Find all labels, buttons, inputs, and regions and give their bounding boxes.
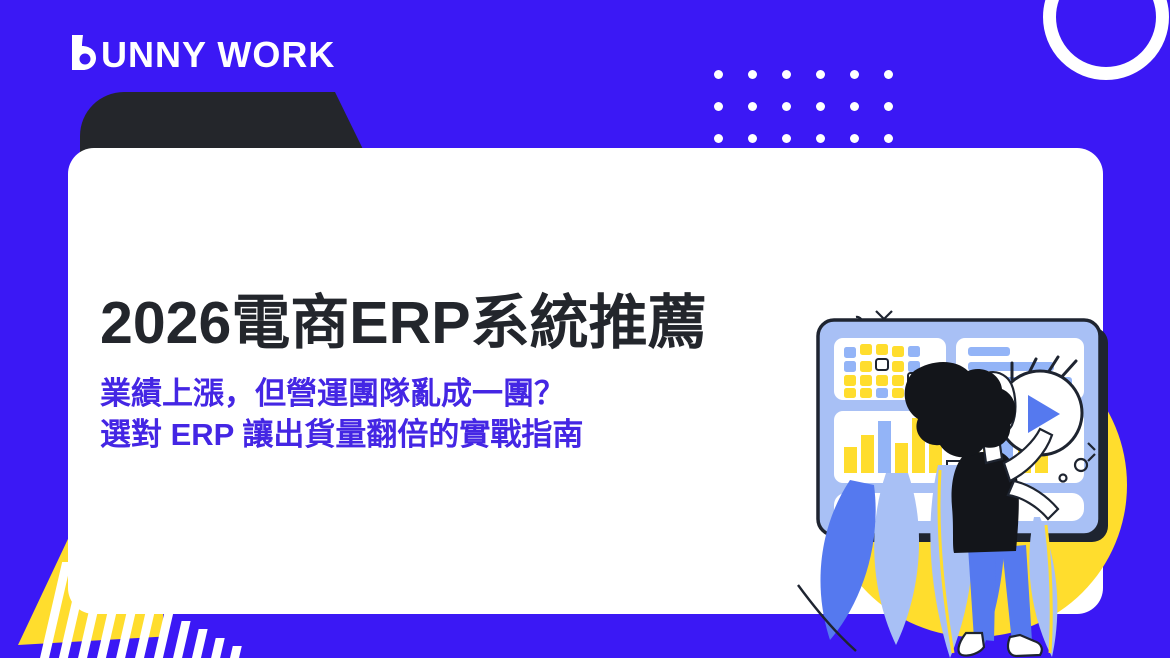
grid-dot bbox=[714, 70, 723, 79]
subtitle-line-1: 業績上漲，但營運團隊亂成一團？ bbox=[100, 373, 760, 414]
stripe bbox=[173, 621, 191, 658]
hero-text-block: 2026電商ERP系統推薦 業績上漲，但營運團隊亂成一團？ 選對 ERP 讓出貨… bbox=[100, 292, 760, 455]
grid-dot bbox=[782, 134, 791, 143]
grid-dot bbox=[884, 134, 893, 143]
grid-dot bbox=[816, 134, 825, 143]
grid-dot bbox=[782, 102, 791, 111]
grid-dot bbox=[884, 102, 893, 111]
bunny-b-icon bbox=[68, 33, 102, 77]
grid-dot bbox=[816, 102, 825, 111]
stripe bbox=[230, 646, 242, 658]
grid-dot bbox=[748, 70, 757, 79]
stripe bbox=[211, 638, 225, 658]
grid-dot bbox=[714, 102, 723, 111]
brand-name: UNNY WORK bbox=[101, 37, 335, 73]
page-title: 2026電商ERP系統推薦 bbox=[100, 292, 760, 356]
grid-dot bbox=[850, 70, 859, 79]
brand-logo[interactable]: UNNY WORK bbox=[68, 33, 335, 77]
grid-dot bbox=[850, 134, 859, 143]
stripe bbox=[154, 612, 174, 658]
grid-dot bbox=[714, 134, 723, 143]
grid-dot bbox=[748, 102, 757, 111]
grid-dot bbox=[782, 70, 791, 79]
stripe bbox=[192, 629, 208, 658]
person-with-dashboard-illustration bbox=[790, 285, 1170, 658]
grid-dot bbox=[850, 102, 859, 111]
grid-dot bbox=[884, 70, 893, 79]
circle-outline-icon bbox=[1043, 0, 1169, 80]
grid-dot bbox=[816, 70, 825, 79]
subtitle-line-2: 選對 ERP 讓出貨量翻倍的實戰指南 bbox=[100, 414, 760, 455]
grid-dot bbox=[748, 134, 757, 143]
poster-canvas: UNNY WORK 2026電商ERP系統推薦 業績上漲，但營運團隊亂成一團？ … bbox=[0, 0, 1170, 658]
